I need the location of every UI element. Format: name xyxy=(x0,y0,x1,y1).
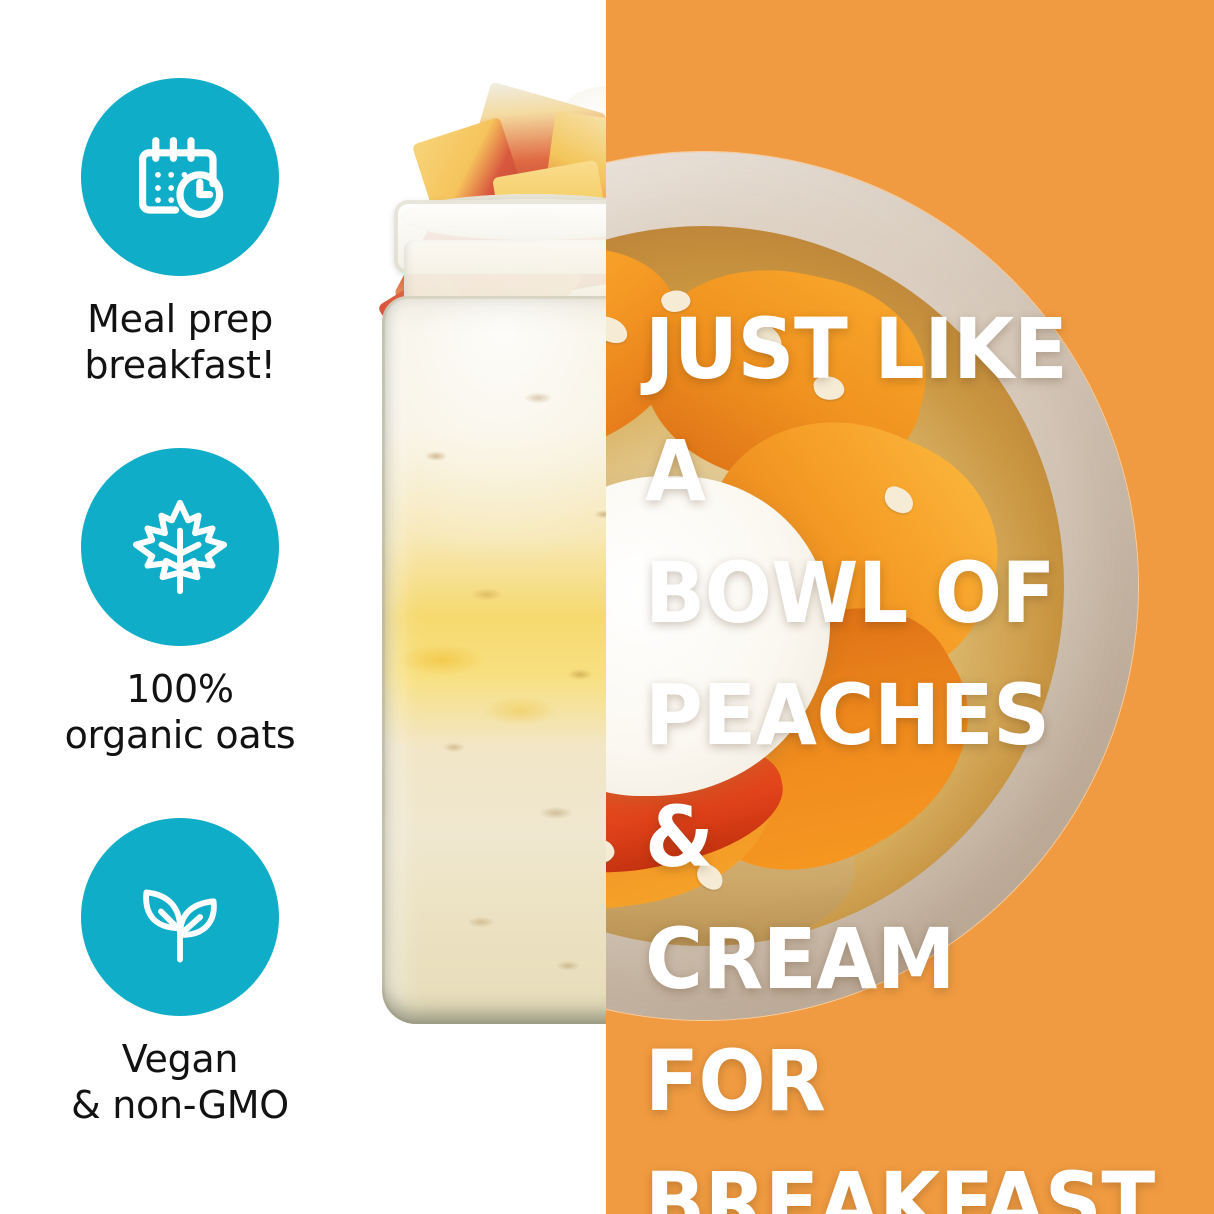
feature-label-vegan: Vegan & non-GMO xyxy=(0,1036,360,1128)
poster-canvas: JUST LIKE A BOWL OF PEACHES & CREAM FOR … xyxy=(0,0,1214,1214)
jar-glass-edge xyxy=(382,296,606,1024)
feature-item-organic-oats: 100% organic oats xyxy=(0,448,360,758)
feature-item-vegan: Vegan & non-GMO xyxy=(0,818,360,1128)
headline: JUST LIKE A BOWL OF PEACHES & CREAM FOR … xyxy=(645,288,1134,1214)
maple-leaf-icon xyxy=(81,448,279,646)
feature-label-meal-prep: Meal prep breakfast! xyxy=(0,296,360,388)
feature-item-meal-prep: Meal prep breakfast! xyxy=(0,78,360,388)
calendar-clock-icon xyxy=(81,78,279,276)
sprout-leaves-icon xyxy=(81,818,279,1016)
mason-jar-photo xyxy=(350,0,606,1214)
feature-label-organic-oats: 100% organic oats xyxy=(0,666,360,758)
feature-list: Meal prep breakfast! 100% organic oats xyxy=(0,0,360,1214)
